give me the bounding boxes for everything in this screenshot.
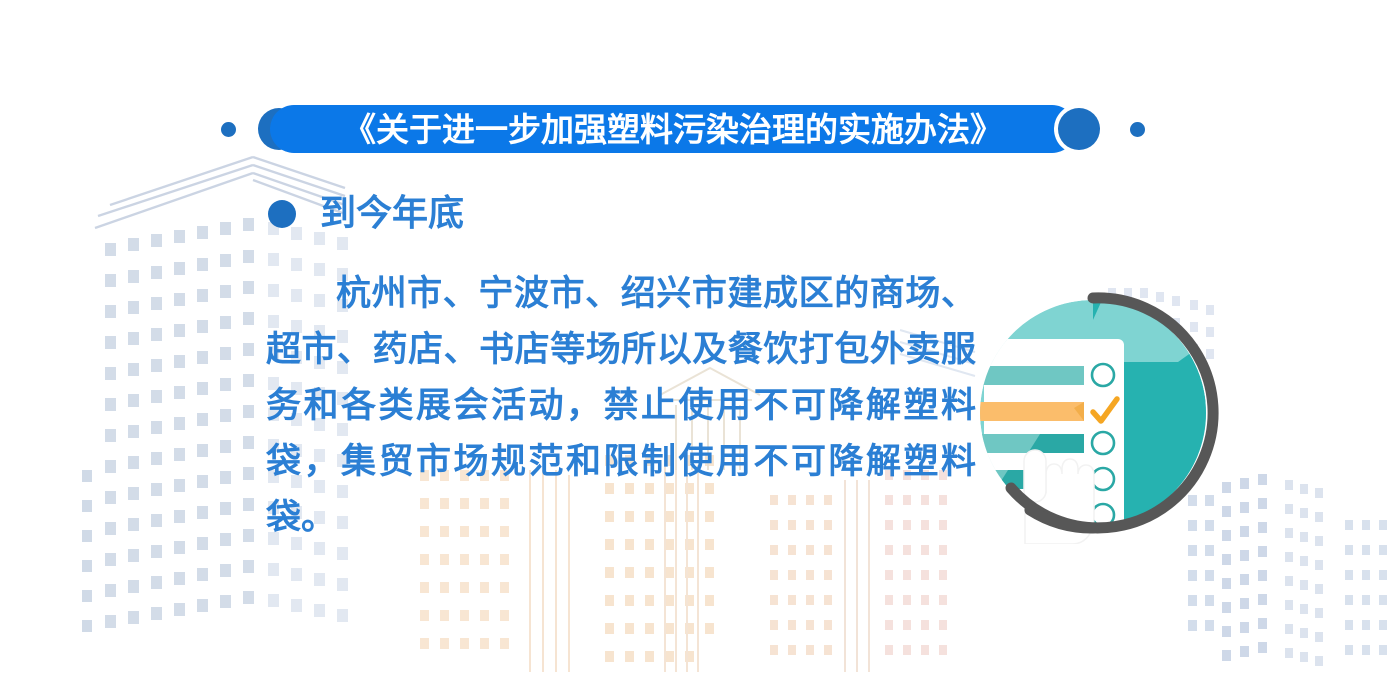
subheading-label: 到今年底: [320, 196, 464, 232]
title-banner-group: 《关于进一步加强塑料污染治理的实施办法》: [0, 96, 1400, 166]
subheading: 到今年底: [268, 196, 464, 232]
title-right-circle: [1058, 108, 1100, 150]
poster-canvas: 《关于进一步加强塑料污染治理的实施办法》 到今年底 杭州市、宁波市、绍兴市建成区…: [0, 0, 1400, 700]
title-banner: 《关于进一步加强塑料污染治理的实施办法》: [270, 105, 1076, 153]
title-left-dot: [221, 122, 236, 137]
title-right-dot: [1130, 122, 1145, 137]
body-paragraph: 杭州市、宁波市、绍兴市建成区的商场、超市、药店、书店等场所以及餐饮打包外卖服务和…: [266, 266, 976, 546]
checklist-circle-illustration: [962, 282, 1224, 544]
bullet-circle-icon: [268, 200, 296, 228]
page-title: 《关于进一步加强塑料污染治理的实施办法》: [343, 113, 1003, 146]
